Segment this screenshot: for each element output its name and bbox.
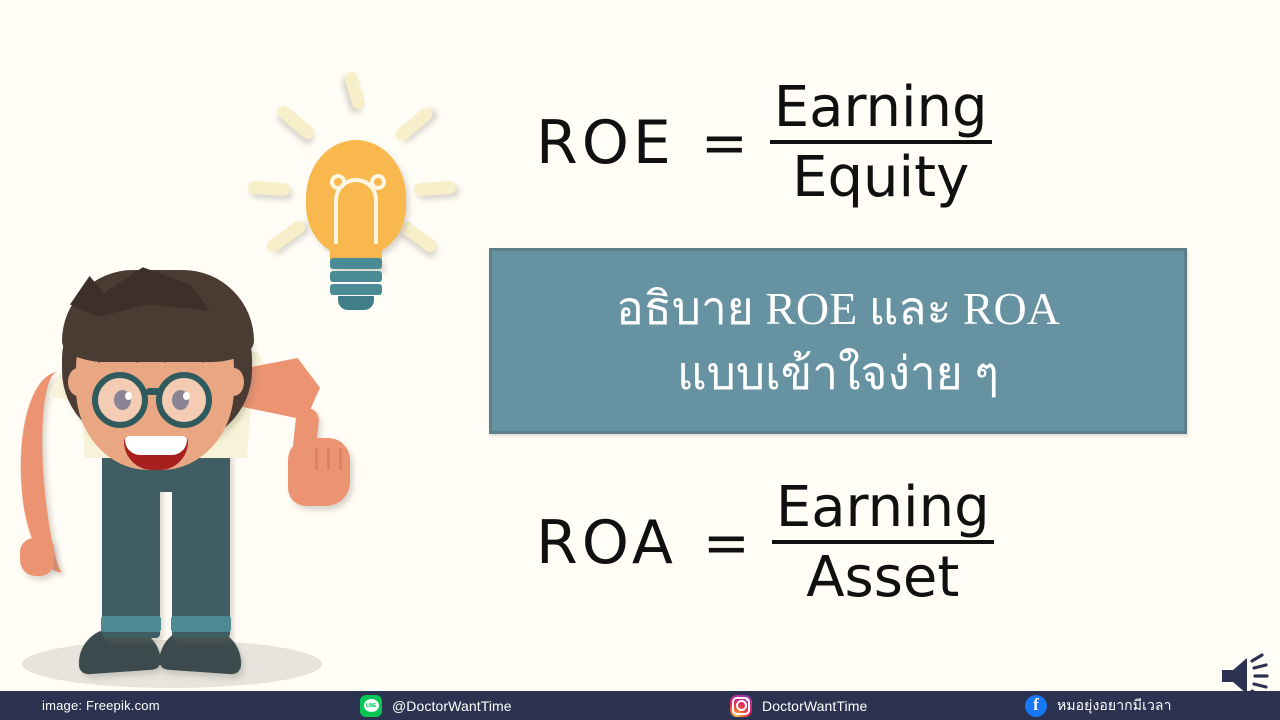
- facebook-icon[interactable]: f: [1025, 695, 1047, 717]
- slide-canvas: ROE = Earning Equity อธิบาย ROE และ ROA …: [0, 0, 1280, 720]
- eyebrow-left: [98, 356, 138, 370]
- formula-roa-fraction: Earning Asset: [772, 478, 994, 609]
- formula-roa-denominator: Asset: [806, 544, 959, 608]
- formula-roe-denominator: Equity: [792, 144, 969, 208]
- bulb-ray: [414, 181, 457, 197]
- social-instagram[interactable]: DoctorWantTime: [730, 691, 867, 720]
- bulb-base-ring: [330, 271, 382, 282]
- eye-highlight-left: [125, 392, 132, 400]
- knuckle-line: [315, 448, 318, 470]
- title-box: อธิบาย ROE และ ROA แบบเข้าใจง่าย ๆ: [489, 248, 1187, 434]
- instagram-icon-dot: [746, 699, 749, 702]
- light-bulb-icon: [248, 78, 478, 328]
- facebook-icon-label: f: [1033, 696, 1039, 713]
- formula-roa: ROA = Earning Asset: [536, 478, 994, 609]
- bulb-ray: [264, 218, 307, 254]
- formula-roe: ROE = Earning Equity: [536, 78, 992, 209]
- bulb-base-ring: [330, 284, 382, 295]
- eye-highlight-right: [183, 392, 190, 400]
- line-icon[interactable]: LINE: [360, 695, 382, 717]
- bulb-filament-hook: [370, 174, 386, 190]
- knuckle-line: [327, 448, 330, 470]
- eyebrow-right: [164, 356, 204, 370]
- formula-roa-label: ROA: [536, 508, 677, 578]
- glasses-bridge: [146, 388, 162, 395]
- instagram-icon[interactable]: [730, 695, 752, 717]
- line-icon-label: LINE: [364, 699, 379, 712]
- bulb-filament-hook: [330, 174, 346, 190]
- formula-roa-equals: =: [703, 511, 750, 576]
- social-line-handle: @DoctorWantTime: [392, 698, 512, 714]
- bulb-ray: [344, 70, 367, 110]
- bulb-base-ring: [330, 258, 382, 269]
- formula-roe-equals: =: [701, 111, 748, 176]
- image-credit: image: Freepik.com: [42, 691, 160, 720]
- bulb-ray: [275, 103, 317, 141]
- social-facebook[interactable]: f หมอยุ่งอยากมีเวลา: [1025, 691, 1172, 720]
- teeth: [125, 436, 187, 455]
- knuckle-line: [339, 448, 342, 470]
- bottom-bar: image: Freepik.com LINE @DoctorWantTime …: [0, 691, 1280, 720]
- bulb-base-tip: [338, 296, 374, 310]
- formula-roe-numerator: Earning: [770, 78, 992, 144]
- social-facebook-handle: หมอยุ่งอยากมีเวลา: [1057, 695, 1172, 717]
- bulb-ray: [393, 105, 435, 143]
- social-instagram-handle: DoctorWantTime: [762, 698, 867, 714]
- fist-left: [20, 538, 54, 576]
- social-line[interactable]: LINE @DoctorWantTime: [360, 691, 512, 720]
- formula-roa-numerator: Earning: [772, 478, 994, 544]
- formula-roe-fraction: Earning Equity: [770, 78, 992, 209]
- title-line-2: แบบเข้าใจง่าย ๆ: [677, 341, 999, 406]
- formula-roe-label: ROE: [536, 108, 675, 178]
- title-line-1: อธิบาย ROE และ ROA: [616, 276, 1060, 341]
- bulb-ray: [248, 181, 291, 197]
- pant-cuff-right: [171, 616, 231, 632]
- pant-cuff-left: [101, 616, 161, 632]
